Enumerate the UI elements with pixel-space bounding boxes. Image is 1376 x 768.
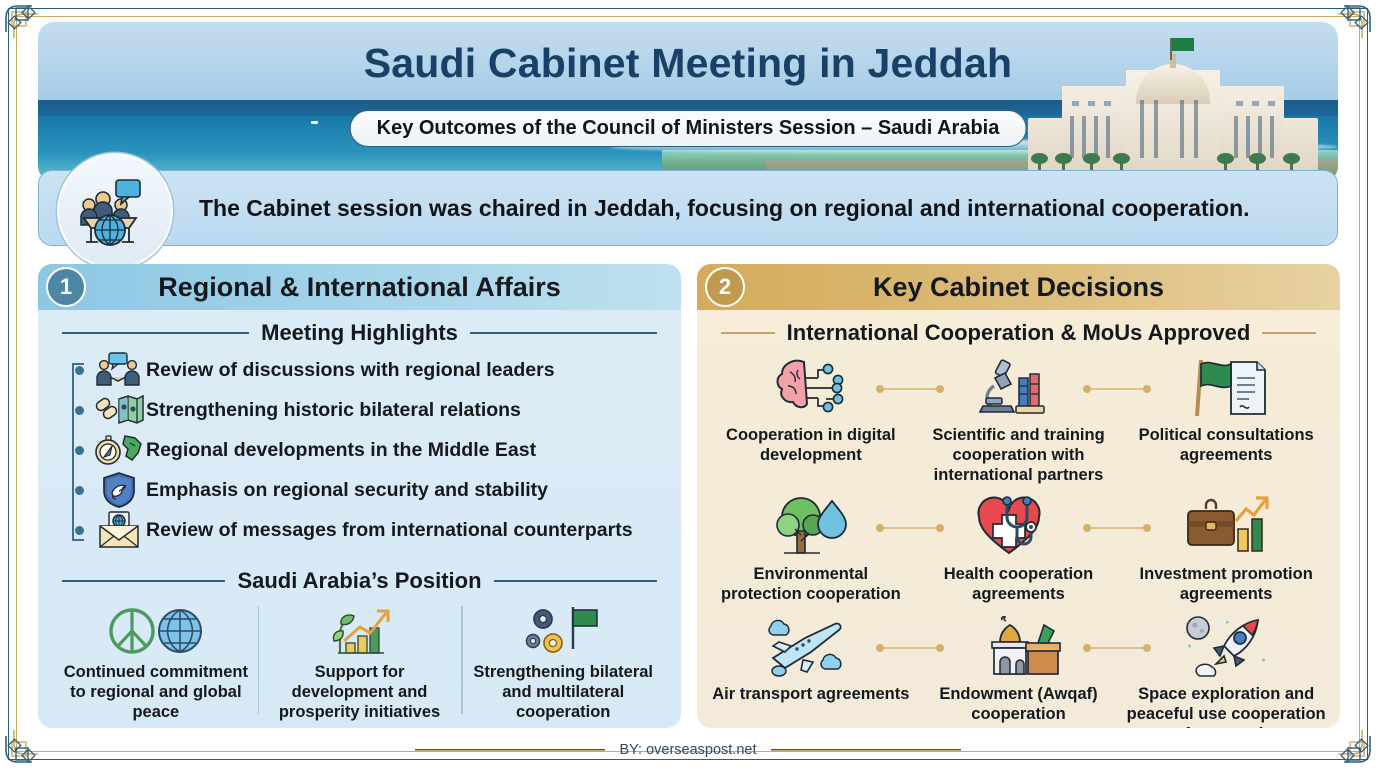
footer: BY: overseaspost.net — [0, 742, 1376, 758]
hero-banner: Saudi Cabinet Meeting in Jeddah Key Outc… — [38, 22, 1338, 182]
flag-document-icon — [1126, 352, 1326, 424]
footer-rule-left — [415, 749, 605, 751]
footer-credit: BY: overseaspost.net — [619, 742, 756, 758]
list-item: Emphasis on regional security and stabil… — [68, 470, 663, 510]
meeting-table-globe-icon — [57, 153, 173, 269]
section-title-text: International Cooperation & MoUs Approve… — [787, 320, 1251, 346]
divider-rule — [62, 332, 249, 334]
lead-summary-text: The Cabinet session was chaired in Jedda… — [199, 195, 1250, 222]
list-item-label: Strengthening bilateral and multilateral… — [469, 662, 657, 722]
list-item: Continued commitment to regional and glo… — [54, 598, 258, 722]
section-international-cooperation-title: International Cooperation & MoUs Approve… — [721, 320, 1316, 346]
list-item: Environmental protection cooperation — [707, 491, 915, 605]
list-item: Support for development and prosperity i… — [258, 598, 462, 722]
bullet-dot — [75, 526, 84, 535]
list-item-label: Review of discussions with regional lead… — [146, 359, 555, 382]
list-item: Review of messages from international co… — [68, 510, 663, 550]
briefcase-growth-chart-icon — [1126, 491, 1326, 563]
list-item-label: Air transport agreements — [711, 685, 911, 705]
list-item-label: Investment promotion agreements — [1126, 565, 1326, 605]
panel-left-title: Regional & International Affairs — [158, 272, 561, 303]
panel-number-badge: 1 — [46, 267, 86, 307]
list-item-label: Cooperation in digital development — [711, 426, 911, 466]
section-title-text: Saudi Arabia’s Position — [237, 568, 481, 594]
list-item: Strengthening historic bilateral relatio… — [68, 390, 663, 430]
list-item-label: Support for development and prosperity i… — [266, 662, 454, 722]
chain-link-map-icon — [92, 391, 146, 429]
list-item-label: Emphasis on regional security and stabil… — [146, 479, 548, 502]
list-item-label: Space exploration and peaceful use coope… — [1126, 685, 1326, 728]
list-item-label: Strengthening historic bilateral relatio… — [146, 399, 521, 422]
list-item-label: Endowment (Awqaf) cooperation — [919, 685, 1119, 725]
list-item: Strengthening bilateral and multilateral… — [461, 598, 665, 722]
list-item: Air transport agreements — [707, 611, 915, 728]
growth-plant-chart-icon — [266, 604, 454, 658]
divider-rule — [470, 332, 657, 334]
divider-rule — [1262, 332, 1316, 334]
list-item: Space exploration and peaceful use coope… — [1122, 611, 1330, 728]
divider-rule — [721, 332, 775, 334]
shield-dove-icon — [92, 471, 146, 509]
list-item: Cooperation in digital development — [707, 352, 915, 485]
panel-right-header: 2 Key Cabinet Decisions — [697, 264, 1340, 310]
bullet-dot — [75, 366, 84, 375]
list-item-label: Review of messages from international co… — [146, 519, 633, 542]
list-item-label: Continued commitment to regional and glo… — [62, 662, 250, 722]
footer-rule-right — [771, 749, 961, 751]
saudi-position-items: Continued commitment to regional and glo… — [54, 598, 665, 722]
list-item: Investment promotion agreements — [1122, 491, 1330, 605]
panel-regional-international-affairs: 1 Regional & International Affairs Meeti… — [38, 264, 681, 728]
list-item: Political consultations agreements — [1122, 352, 1330, 485]
list-item-label: Regional developments in the Middle East — [146, 439, 536, 462]
page-subtitle: Key Outcomes of the Council of Ministers… — [350, 110, 1027, 147]
infographic-page: Saudi Cabinet Meeting in Jeddah Key Outc… — [0, 0, 1376, 768]
cabinet-decisions-grid: Cooperation in digital development — [707, 352, 1330, 728]
bullet-dot — [75, 406, 84, 415]
lead-summary-banner: The Cabinet session was chaired in Jedda… — [38, 170, 1338, 246]
bullet-dot — [75, 446, 84, 455]
list-item-label: Scientific and training cooperation with… — [919, 426, 1119, 485]
list-item: Health cooperation agreements — [915, 491, 1123, 605]
boat-icon — [311, 121, 318, 124]
panel-key-cabinet-decisions: 2 Key Cabinet Decisions International Co… — [697, 264, 1340, 728]
page-title: Saudi Cabinet Meeting in Jeddah — [38, 40, 1338, 87]
list-item: Regional developments in the Middle East — [68, 430, 663, 470]
panel-right-title: Key Cabinet Decisions — [873, 272, 1164, 303]
compass-region-map-icon — [92, 431, 146, 469]
peace-globe-icon — [62, 604, 250, 658]
rocket-moon-icon — [1126, 611, 1326, 683]
list-item: Review of discussions with regional lead… — [68, 350, 663, 390]
section-saudi-position-title: Saudi Arabia’s Position — [62, 568, 657, 594]
list-item-label: Political consultations agreements — [1126, 426, 1326, 466]
meeting-highlights-list: Review of discussions with regional lead… — [38, 350, 681, 550]
divider-rule — [62, 580, 225, 582]
gears-flag-icon — [469, 604, 657, 658]
section-meeting-highlights-title: Meeting Highlights — [62, 320, 657, 346]
panel-number-badge: 2 — [705, 267, 745, 307]
divider-rule — [494, 580, 657, 582]
handshake-discussion-icon — [92, 351, 146, 389]
list-item-label: Health cooperation agreements — [919, 565, 1119, 605]
panel-left-header: 1 Regional & International Affairs — [38, 264, 681, 310]
list-item: Scientific and training cooperation with… — [915, 352, 1123, 485]
envelope-globe-icon — [92, 511, 146, 549]
section-title-text: Meeting Highlights — [261, 320, 458, 346]
list-item: Endowment (Awqaf) cooperation — [915, 611, 1123, 728]
bullet-dot — [75, 486, 84, 495]
list-item-label: Environmental protection cooperation — [711, 565, 911, 605]
